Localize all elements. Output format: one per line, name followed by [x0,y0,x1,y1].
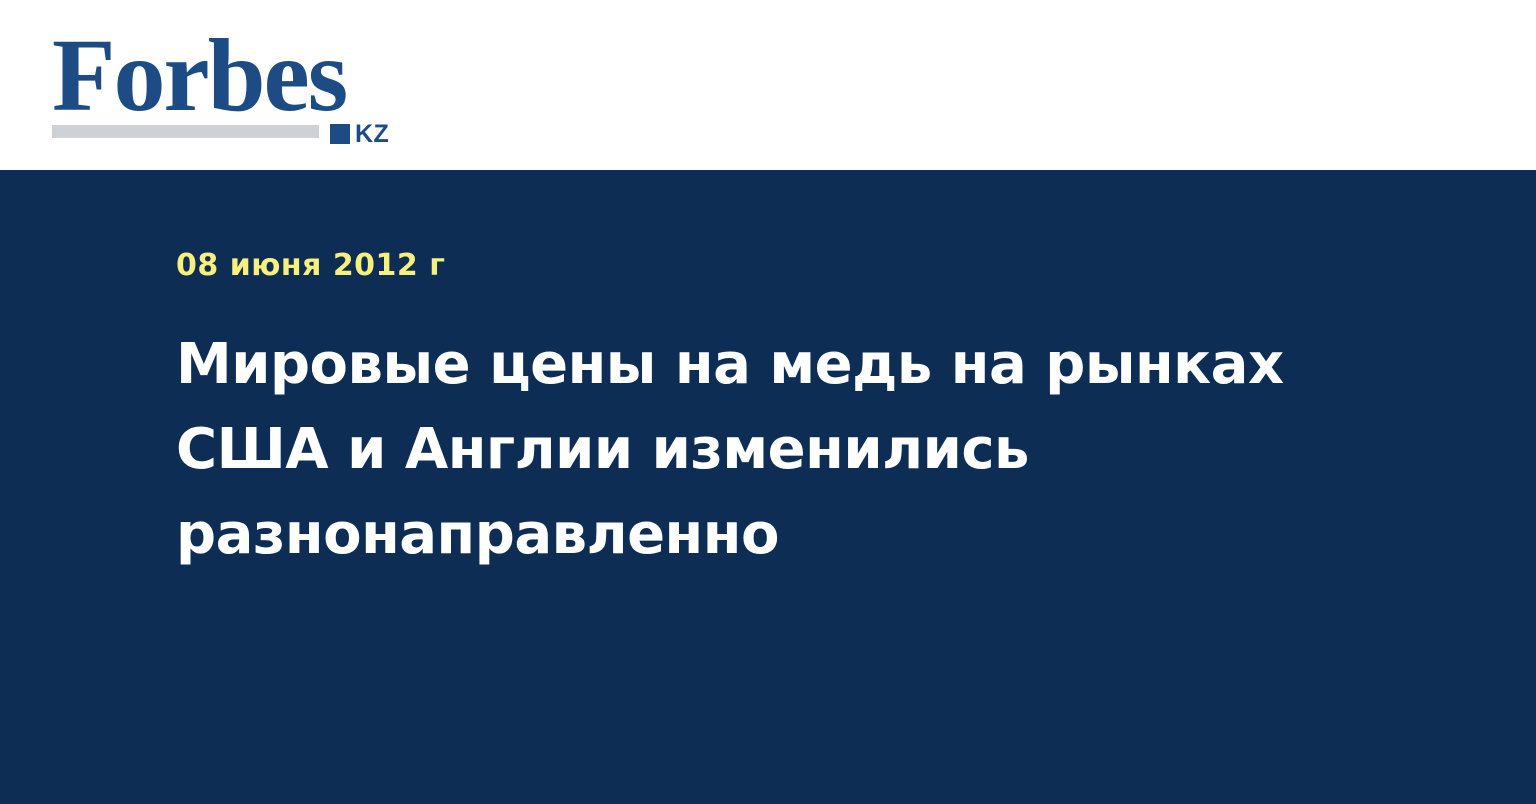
article-hero-content: 08 июня 2012 г Мировые цены на медь на р… [176,170,1376,577]
logo-kz-label: KZ [355,122,389,147]
logo-rule [52,125,319,138]
article-page: Forbes KZ 08 июня 2012 г Мировые цены на… [0,0,1536,804]
article-date: 08 июня 2012 г [176,170,1376,283]
forbes-kz-logo[interactable]: Forbes KZ [52,24,412,142]
site-masthead: Forbes KZ [0,0,1536,170]
logo-square-icon [330,124,350,144]
forbes-wordmark: Forbes [52,24,346,128]
article-title: Мировые цены на медь на рынках США и Анг… [176,283,1286,577]
article-hero: 08 июня 2012 г Мировые цены на медь на р… [0,170,1536,804]
